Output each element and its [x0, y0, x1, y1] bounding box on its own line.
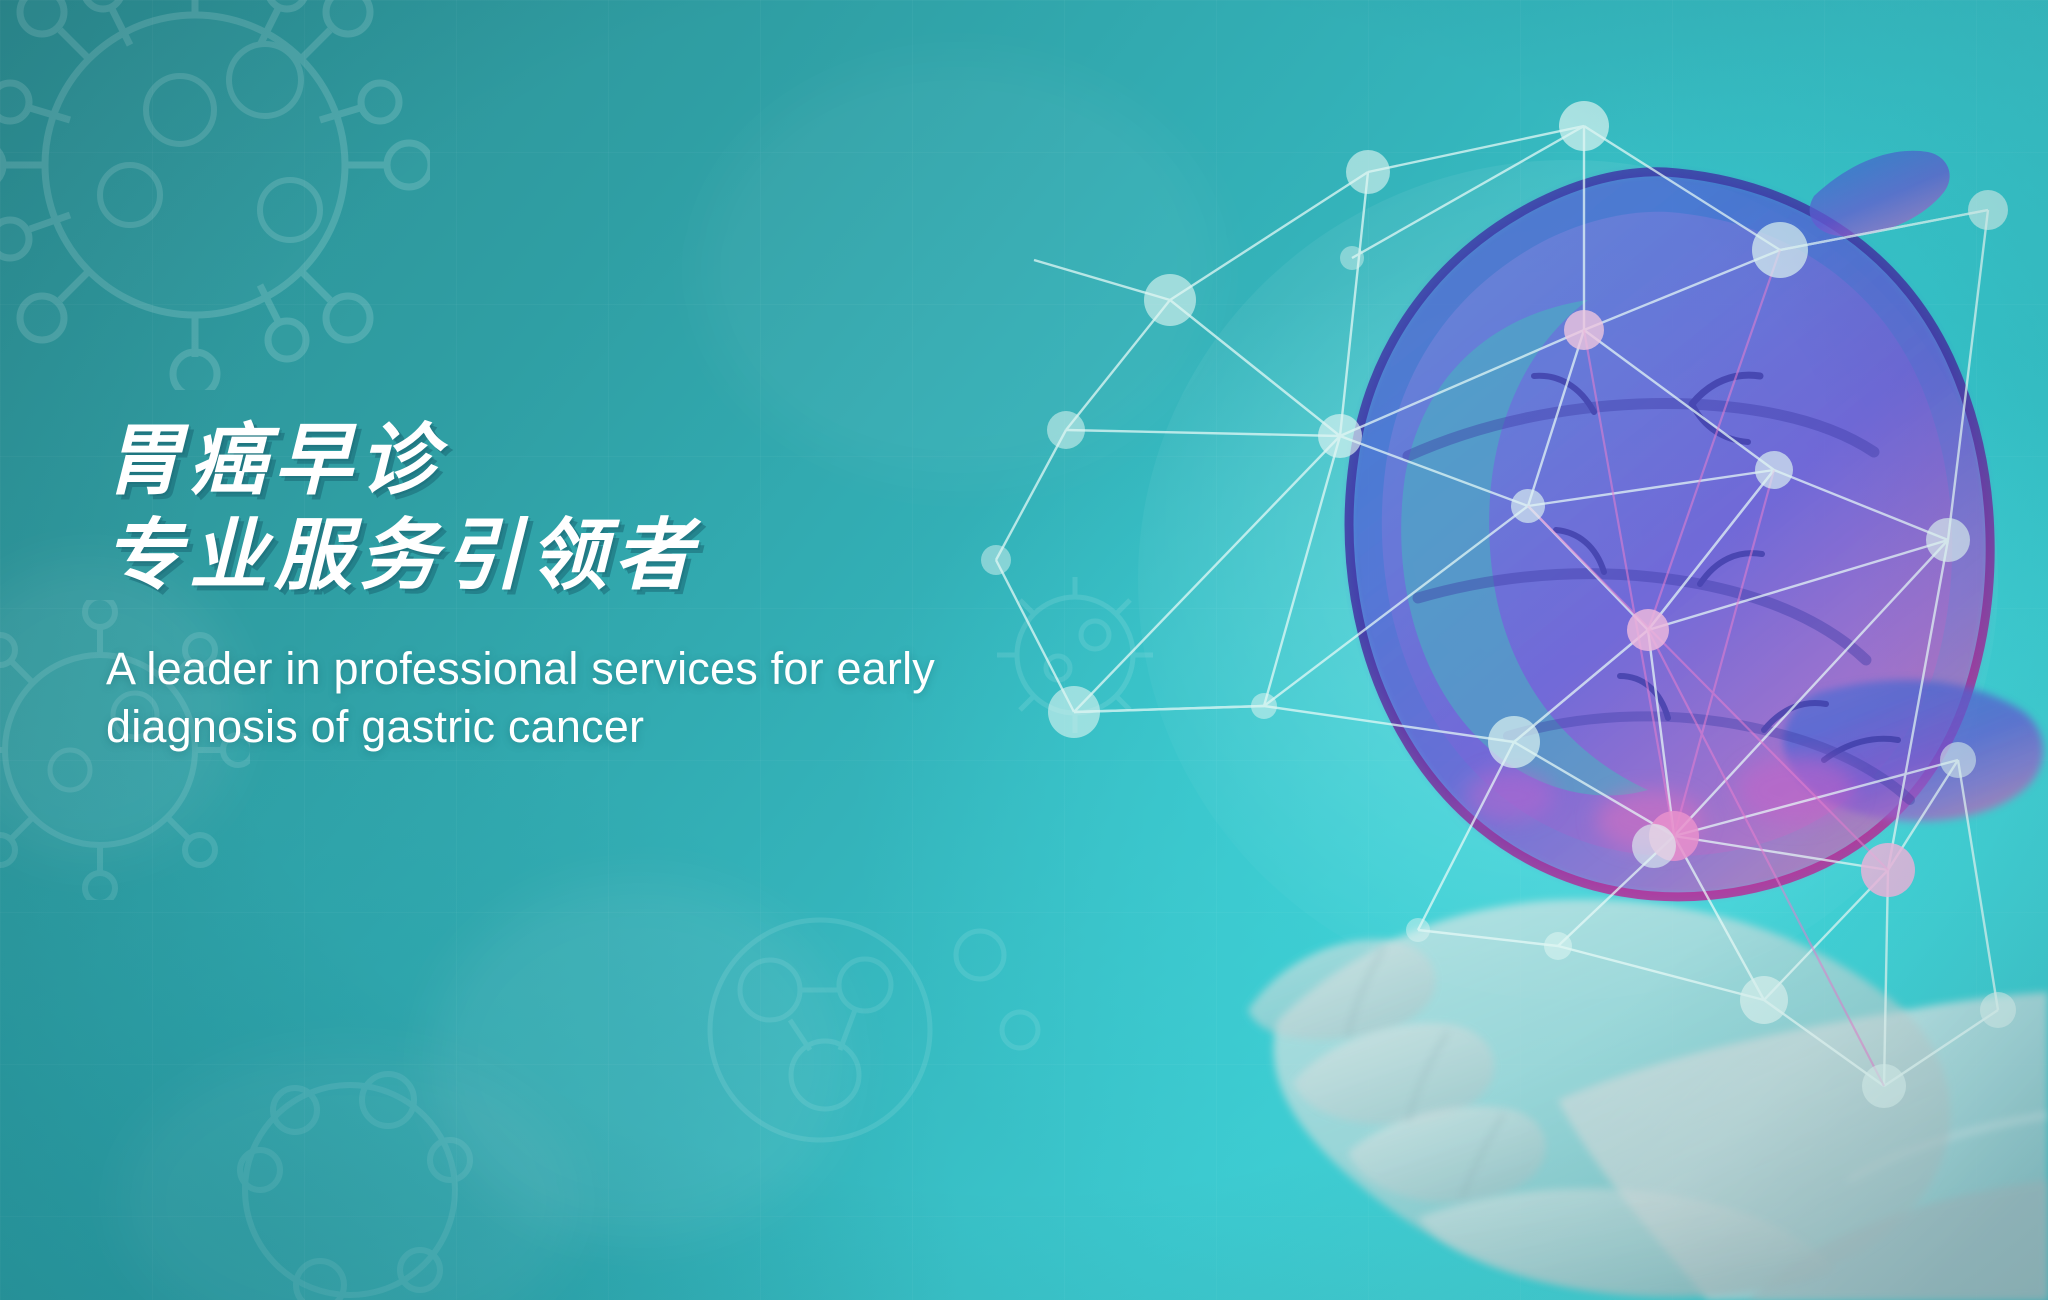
- subtitle-block: A leader in professional services for ea…: [106, 640, 1126, 755]
- headline-line-2: 专业服务引领者: [104, 515, 1104, 596]
- hero-banner: 胃癌早诊 专业服务引领者 A leader in professional se…: [0, 0, 2048, 1300]
- subtitle-line-1: A leader in professional services for ea…: [106, 640, 1126, 698]
- headline-line-1: 胃癌早诊: [104, 420, 1104, 501]
- headline-block: 胃癌早诊 专业服务引领者: [104, 420, 1104, 596]
- subtitle-line-2: diagnosis of gastric cancer: [106, 698, 1126, 756]
